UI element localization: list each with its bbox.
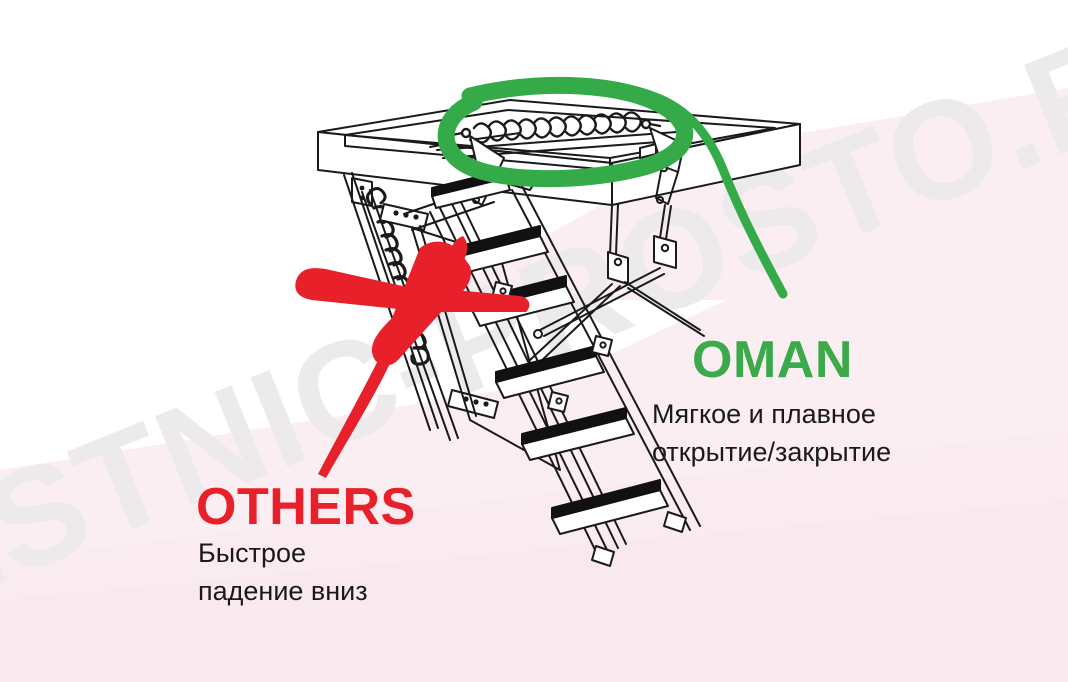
- caption-oman-line2: открытие/закрытие: [652, 434, 891, 470]
- brand-label-others: OTHERS: [196, 477, 416, 537]
- red-arrow-marker: [0, 0, 1068, 682]
- caption-others-line1: Быстрое: [198, 535, 306, 571]
- illustration-canvas: LESTNIC-PROSTO.RU: [0, 0, 1068, 682]
- caption-others-line2: падение вниз: [198, 573, 368, 609]
- red-arrow-tail: [318, 340, 398, 478]
- brand-label-oman: OMAN: [692, 330, 853, 390]
- caption-oman-line1: Мягкое и плавное: [652, 396, 876, 432]
